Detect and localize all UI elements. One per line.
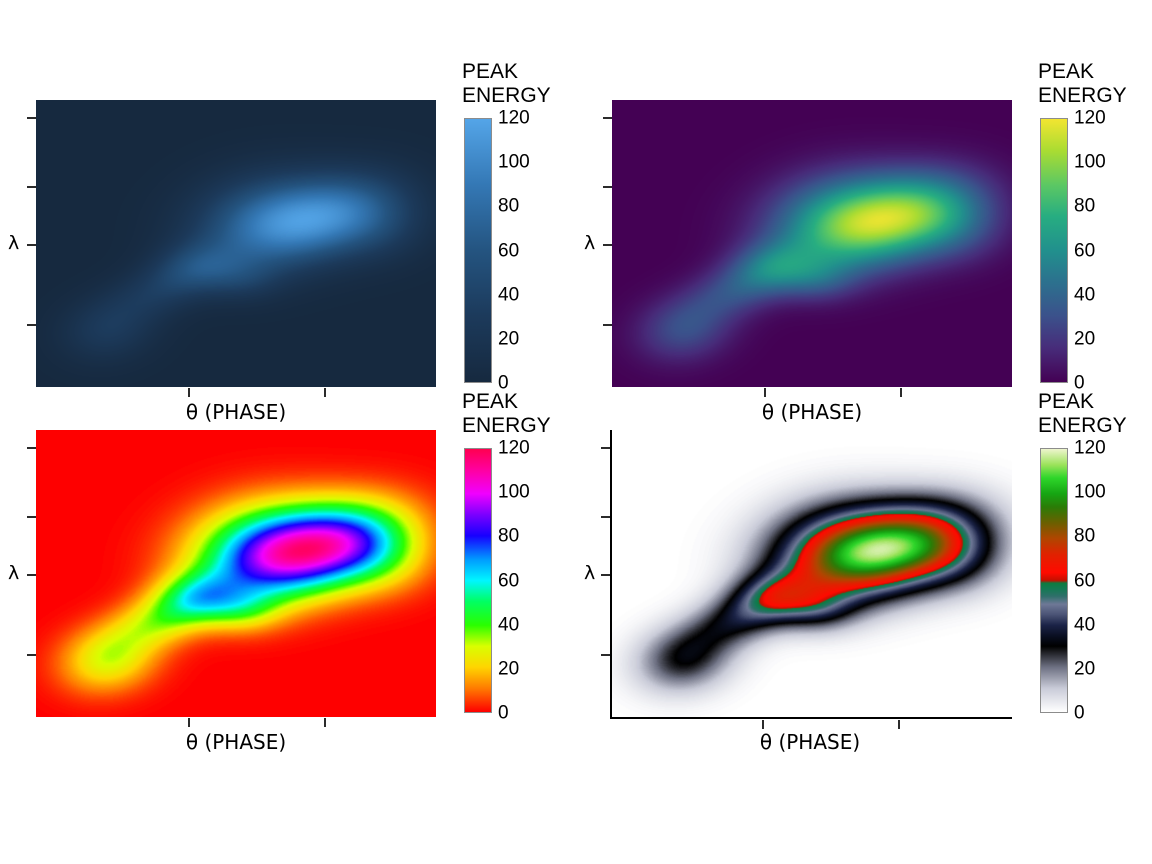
plot-area-1[interactable]	[612, 100, 1012, 387]
plot-area-0[interactable]	[36, 100, 436, 387]
colorbar-ticklabels-2: 020406080100120	[496, 448, 566, 713]
y-tick-3-1	[601, 516, 610, 518]
colorbar-tick-label-1-100: 100	[1074, 153, 1106, 172]
heatmap-image-1	[612, 100, 1012, 387]
y-axis-label-3: λ	[584, 564, 595, 583]
colorbar-gradient-2	[464, 448, 492, 713]
heatmap-image-3	[612, 430, 1012, 717]
colorbar-tick-label-1-40: 40	[1074, 285, 1095, 304]
heatmap-image-2	[36, 430, 436, 717]
y-tick-2-1	[27, 516, 36, 518]
y-tick-2-2	[27, 574, 36, 576]
colorbar-tick-label-2-60: 60	[498, 571, 519, 590]
colorbar-tick-label-3-20: 20	[1074, 659, 1095, 678]
colorbar-tick-label-1-120: 120	[1074, 109, 1106, 128]
colorbar-tick-label-2-120: 120	[498, 439, 530, 458]
colorbar-tick-label-0-120: 120	[498, 109, 530, 128]
plot-area-3[interactable]	[610, 430, 1012, 719]
colorbar-title-1: PEAK ENERGY	[1038, 60, 1148, 108]
colorbar-tick-label-0-60: 60	[498, 241, 519, 260]
colorbar-1: PEAK ENERGY 020406080100120	[1038, 60, 1152, 440]
y-tick-1-1	[603, 186, 612, 188]
colorbar-tick-label-2-20: 20	[498, 659, 519, 678]
colorbar-tick-label-0-40: 40	[498, 285, 519, 304]
y-tick-2-3	[27, 654, 36, 656]
colorbar-gradient-3	[1040, 448, 1068, 713]
colorbar-gradient-1	[1040, 118, 1068, 383]
colorbar-tick-label-0-80: 80	[498, 197, 519, 216]
colorbar-tick-label-1-60: 60	[1074, 241, 1095, 260]
heatmap-panel-0: λ θ (PHASE) PEAK ENERGY 020406080100120	[0, 60, 576, 440]
heatmap-panel-1: λ θ (PHASE) PEAK ENERGY 020406080100120	[576, 60, 1152, 440]
y-axis-label-1: λ	[584, 234, 595, 253]
colorbar-tick-label-3-60: 60	[1074, 571, 1095, 590]
colorbar-0: PEAK ENERGY 020406080100120	[462, 60, 576, 440]
y-tick-3-0	[601, 447, 610, 449]
y-tick-1-3	[603, 324, 612, 326]
colorbar-title-3: PEAK ENERGY	[1038, 390, 1148, 438]
y-axis-label-2: λ	[8, 564, 19, 583]
heatmap-panel-2: λ θ (PHASE) PEAK ENERGY 020406080100120	[0, 390, 576, 770]
y-tick-3-3	[601, 654, 610, 656]
colorbar-title-0: PEAK ENERGY	[462, 60, 572, 108]
colorbar-tick-label-3-40: 40	[1074, 615, 1095, 634]
colorbar-tick-label-1-20: 20	[1074, 329, 1095, 348]
colorbar-ticklabels-1: 020406080100120	[1072, 118, 1142, 383]
plot-area-2[interactable]	[36, 430, 436, 717]
colorbar-ticklabels-3: 020406080100120	[1072, 448, 1142, 713]
y-tick-3-2	[601, 574, 610, 576]
x-tick-2-0	[188, 718, 190, 727]
colorbar-tick-label-2-0: 0	[498, 704, 509, 723]
heatmap-panel-3: λ θ (PHASE) PEAK ENERGY 020406080100120	[576, 390, 1152, 770]
y-tick-0-0	[27, 117, 36, 119]
y-axis-label-0: λ	[8, 234, 19, 253]
colorbar-ticklabels-0: 020406080100120	[496, 118, 566, 383]
colorbar-3: PEAK ENERGY 020406080100120	[1038, 390, 1152, 770]
colorbar-tick-label-1-80: 80	[1074, 197, 1095, 216]
y-tick-0-2	[27, 244, 36, 246]
x-axis-label-3: θ (PHASE)	[610, 730, 1010, 754]
x-axis-label-2: θ (PHASE)	[36, 730, 436, 754]
colorbar-gradient-0	[464, 118, 492, 383]
colorbar-tick-label-2-100: 100	[498, 483, 530, 502]
y-tick-1-0	[603, 117, 612, 119]
y-tick-0-1	[27, 186, 36, 188]
x-tick-2-1	[324, 718, 326, 727]
colorbar-tick-label-3-0: 0	[1074, 704, 1085, 723]
colorbar-tick-label-0-100: 100	[498, 153, 530, 172]
colorbar-title-2: PEAK ENERGY	[462, 390, 572, 438]
figure-canvas: λ θ (PHASE) PEAK ENERGY 020406080100120 …	[0, 0, 1152, 864]
y-tick-0-3	[27, 324, 36, 326]
colorbar-2: PEAK ENERGY 020406080100120	[462, 390, 576, 770]
x-tick-3-0	[762, 720, 764, 729]
y-tick-2-0	[27, 447, 36, 449]
heatmap-image-0	[36, 100, 436, 387]
x-tick-3-1	[898, 720, 900, 729]
colorbar-tick-label-0-20: 20	[498, 329, 519, 348]
colorbar-tick-label-2-40: 40	[498, 615, 519, 634]
colorbar-tick-label-2-80: 80	[498, 527, 519, 546]
colorbar-tick-label-3-120: 120	[1074, 439, 1106, 458]
y-tick-1-2	[603, 244, 612, 246]
colorbar-tick-label-3-80: 80	[1074, 527, 1095, 546]
colorbar-tick-label-3-100: 100	[1074, 483, 1106, 502]
